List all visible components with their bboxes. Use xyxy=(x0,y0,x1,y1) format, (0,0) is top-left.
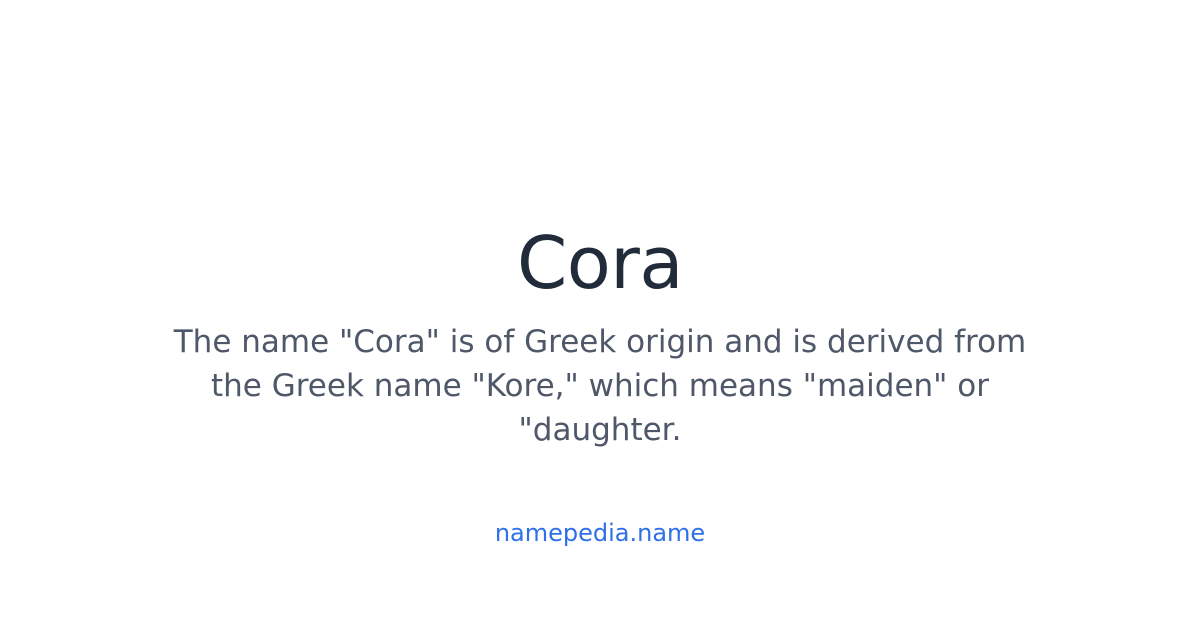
site-link[interactable]: namepedia.name xyxy=(495,519,705,547)
page-title: Cora xyxy=(517,222,683,304)
card-content: Cora The name "Cora" is of Greek origin … xyxy=(0,222,1200,452)
card-footer: namepedia.name xyxy=(0,518,1200,548)
name-description: The name "Cora" is of Greek origin and i… xyxy=(150,320,1050,452)
name-info-card: Cora The name "Cora" is of Greek origin … xyxy=(0,0,1200,630)
